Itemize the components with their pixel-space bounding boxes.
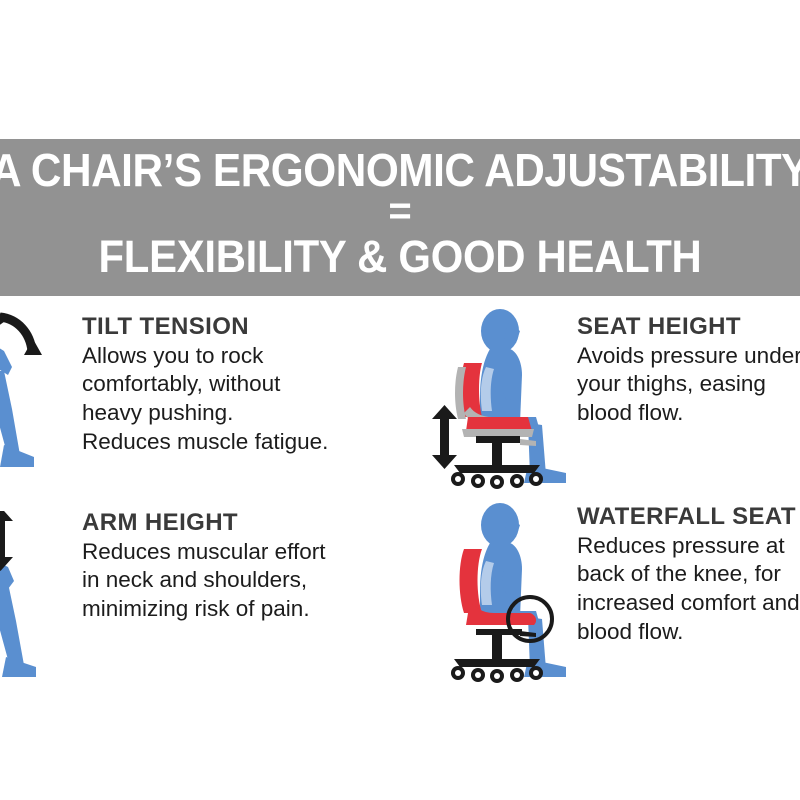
section-arm-height: ARM HEIGHT Reduces muscular effort in ne…	[0, 497, 400, 692]
content-row-bottom: ARM HEIGHT Reduces muscular effort in ne…	[0, 497, 800, 692]
body-line: Reduces muscular effort	[82, 538, 412, 567]
chair-figure	[0, 556, 36, 682]
section-waterfall-seat: WATERFALL SEAT Reduces pressure at back …	[400, 497, 800, 692]
body-line: comfortably, without	[82, 370, 412, 399]
seat-height-text: SEAT HEIGHT Avoids pressure under your t…	[577, 313, 800, 428]
waterfall-seat-body: Reduces pressure at back of the knee, fo…	[577, 532, 800, 647]
section-seat-height: SEAT HEIGHT Avoids pressure under your t…	[400, 305, 800, 500]
banner-equals-sign: =	[388, 191, 411, 231]
body-line: heavy pushing.	[82, 399, 412, 428]
body-line: back of the knee, for	[577, 560, 800, 589]
arm-height-text: ARM HEIGHT Reduces muscular effort in ne…	[82, 509, 412, 624]
vertical-double-arrow-icon	[0, 511, 13, 571]
body-line: minimizing risk of pain.	[82, 595, 412, 624]
body-line: blood flow.	[577, 399, 800, 428]
tilt-tension-text: TILT TENSION Allows you to rock comforta…	[82, 313, 412, 457]
banner-title-line2: FLEXIBILITY & GOOD HEALTH	[76, 231, 724, 283]
body-line: increased comfort and	[577, 589, 800, 618]
section-tilt-tension: TILT TENSION Allows you to rock comforta…	[0, 305, 400, 500]
waterfall-seat-heading: WATERFALL SEAT	[577, 503, 800, 531]
body-line: in neck and shoulders,	[82, 566, 412, 595]
chair-arm-height-illustration	[0, 511, 58, 701]
chair-tilt-tension-illustration	[0, 305, 58, 495]
body-line: blood flow.	[577, 618, 800, 647]
chair-seat-height-illustration	[424, 305, 574, 495]
content-row-top: TILT TENSION Allows you to rock comforta…	[0, 305, 800, 500]
curved-rocking-arrow-icon	[0, 309, 42, 355]
arm-height-body: Reduces muscular effort in neck and shou…	[82, 538, 412, 624]
waterfall-seat-text: WATERFALL SEAT Reduces pressure at back …	[577, 503, 800, 647]
body-line: Allows you to rock	[82, 342, 412, 371]
arm-height-heading: ARM HEIGHT	[82, 509, 412, 537]
seat-height-heading: SEAT HEIGHT	[577, 313, 800, 341]
body-line: your thighs, easing	[577, 370, 800, 399]
body-line: Reduces pressure at	[577, 532, 800, 561]
chair-figure	[0, 339, 34, 470]
tilt-tension-body: Allows you to rock comfortably, without …	[82, 342, 412, 457]
infographic-page: A CHAIR’S ERGONOMIC ADJUSTABILITY = FLEX…	[0, 0, 800, 800]
chair-waterfall-seat-illustration	[424, 497, 574, 687]
body-line: Reduces muscle fatigue.	[82, 428, 412, 457]
vertical-double-arrow-icon	[432, 405, 457, 469]
body-line: Avoids pressure under	[577, 342, 800, 371]
seat-height-body: Avoids pressure under your thighs, easin…	[577, 342, 800, 428]
tilt-tension-heading: TILT TENSION	[82, 313, 412, 341]
header-banner: A CHAIR’S ERGONOMIC ADJUSTABILITY = FLEX…	[0, 139, 800, 296]
